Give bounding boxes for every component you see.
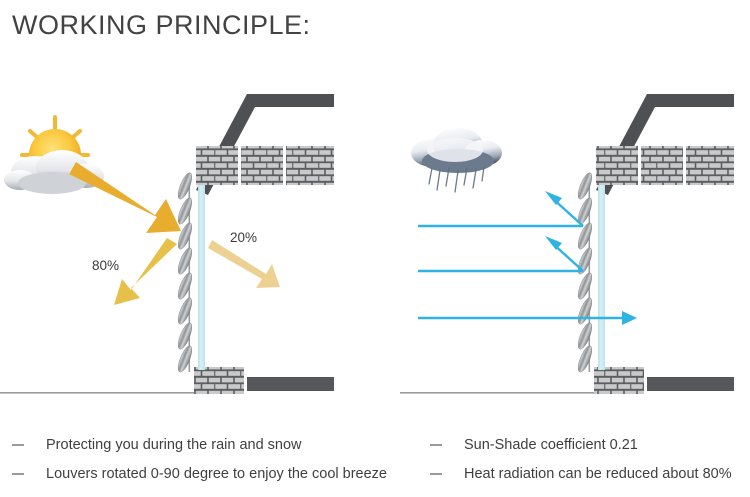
bullet-text: Sun-Shade coefficient 0.21: [464, 432, 638, 458]
louver-blade: [575, 344, 594, 373]
floor-slab: [647, 377, 734, 391]
bullet-list-right: Sun-Shade coefficient 0.21 Heat radiatio…: [430, 432, 750, 490]
arrowhead-up-left: [545, 191, 562, 205]
working-principle-figure: WORKING PRINCIPLE:: [0, 0, 750, 497]
louver-blade: [575, 321, 594, 350]
arrowhead-right: [622, 311, 637, 325]
dash-bullet-icon: [430, 473, 442, 475]
louver-blade: [175, 321, 194, 350]
floor-slab: [247, 377, 334, 391]
diagram-canvas: [0, 0, 750, 497]
ground-line: [0, 392, 200, 394]
brick-wall-block: [641, 146, 683, 185]
bullet-list-left: Protecting you during the rain and snow …: [12, 432, 412, 490]
louver-blade: [175, 246, 194, 275]
label-transmitted-percent: 20%: [230, 230, 257, 245]
bullet-text: Protecting you during the rain and snow: [46, 432, 302, 458]
louver-blades-left: [175, 171, 194, 373]
louver-blade: [575, 271, 594, 300]
arrowhead-up-left: [545, 236, 562, 250]
dash-bullet-icon: [430, 444, 442, 446]
solar-reflected-arrow: [114, 238, 177, 305]
louver-blade: [175, 171, 194, 200]
glass-pane: [598, 185, 605, 370]
list-item: Protecting you during the rain and snow: [12, 432, 412, 461]
dash-bullet-icon: [12, 444, 24, 446]
ground-line: [400, 392, 600, 394]
list-item: Heat radiation can be reduced about 80%: [430, 461, 750, 490]
label-reflected-percent: 80%: [92, 258, 119, 273]
foundation-bricks: [194, 367, 244, 394]
solar-incoming-arrow: [69, 162, 181, 233]
brick-wall-block: [596, 146, 638, 185]
bullet-text: Heat radiation can be reduced about 80%: [464, 461, 732, 487]
louver-blade: [575, 171, 594, 200]
brick-wall-block: [241, 146, 283, 185]
solar-transmitted-arrow: [208, 240, 280, 288]
louver-blade: [175, 344, 194, 373]
dash-bullet-icon: [12, 473, 24, 475]
brick-wall-block: [196, 146, 238, 185]
louver-blade: [575, 296, 594, 325]
glass-pane: [198, 185, 205, 370]
list-item: Louvers rotated 0-90 degree to enjoy the…: [12, 461, 412, 490]
rain-cloud-shape: [411, 128, 502, 173]
louver-blade: [175, 296, 194, 325]
bullet-text: Louvers rotated 0-90 degree to enjoy the…: [46, 461, 387, 487]
brick-wall-block: [286, 146, 334, 185]
foundation-bricks: [594, 367, 644, 394]
louver-blade: [175, 271, 194, 300]
list-item: Sun-Shade coefficient 0.21: [430, 432, 750, 461]
rain-cloud-icon: [411, 128, 502, 192]
brick-wall-block: [686, 146, 734, 185]
louver-blades-right: [575, 171, 594, 373]
heat-rays: [418, 197, 625, 318]
louver-blade: [175, 196, 194, 225]
